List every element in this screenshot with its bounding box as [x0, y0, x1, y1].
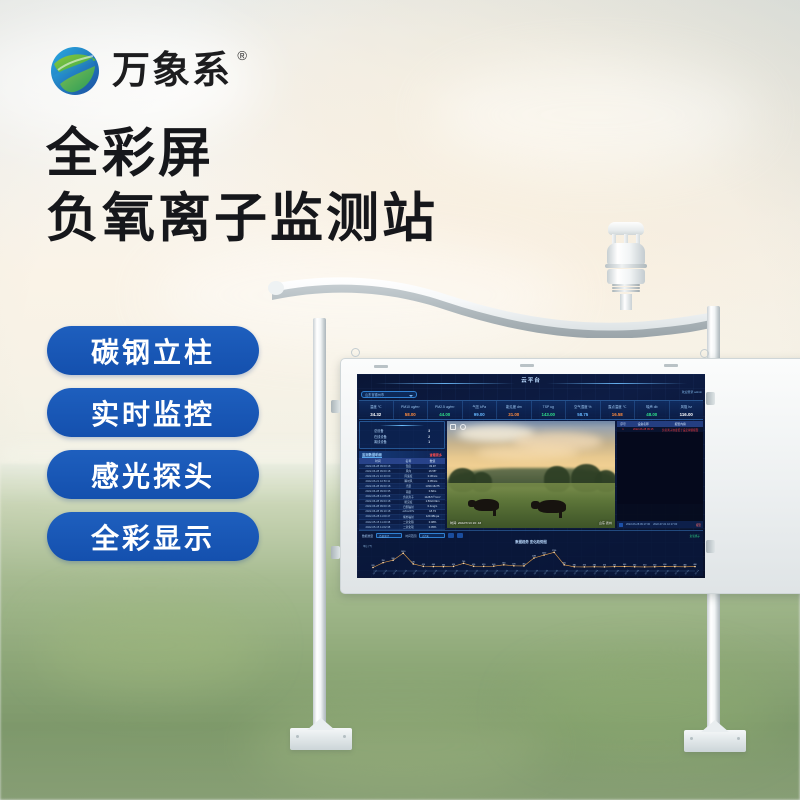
metric-cell: 风阻 hz116.00: [670, 401, 704, 419]
stat-row: 离线设备1: [366, 440, 438, 446]
mount-tab: [664, 364, 678, 367]
row-value: 0.05%: [420, 526, 445, 529]
svg-text:320: 320: [371, 565, 374, 567]
metric-value: 44.00: [428, 410, 462, 419]
side-bracket: [706, 540, 715, 553]
calendar-icon[interactable]: [619, 523, 623, 527]
row-value: 0.08%: [420, 521, 445, 524]
row-time: 2022-05-15 11:02:38: [359, 526, 397, 529]
row-value: 0.4mg/L: [420, 505, 445, 508]
metric-value: 143.00: [532, 410, 566, 419]
video-toolbar[interactable]: [450, 424, 466, 430]
row-name: 负氧离子: [397, 495, 420, 499]
row-time: 2022-06-28 09:00:35: [359, 490, 397, 493]
chart-range-select[interactable]: 近7天: [419, 533, 445, 539]
stat-value: 1: [428, 440, 430, 446]
svg-text:560: 560: [563, 562, 566, 564]
alarm-empty-area: [617, 432, 703, 504]
row-name: 能见度: [397, 500, 420, 504]
chart-panel: 数据类型 负氧离子 时间范围 近7天 负氧离子 数据趋势 变化趋势图 单位 (个…: [359, 530, 703, 576]
carbon-steel-post-left: [313, 318, 326, 730]
svg-text:430: 430: [472, 564, 475, 566]
metric-value: 58.75: [566, 410, 600, 419]
svg-text:370: 370: [583, 565, 586, 567]
metric-cell: 露点温度 ℃16.58: [601, 401, 636, 419]
ultrasonic-weather-sensor-icon: [600, 222, 652, 308]
row-name: 瞬时风: [397, 479, 420, 483]
svg-text:380: 380: [683, 564, 686, 566]
row-value: 0.36m/s: [420, 475, 445, 478]
headline-line-2: 负氧离子监测站: [46, 187, 438, 252]
side-bracket: [331, 400, 340, 413]
row-value: 1128.5个/cm³: [420, 495, 445, 499]
metric-strip: 温度 ℃34.32PM10 ug/m³58.00PM2.5 ug/m³44.00…: [359, 400, 703, 420]
row-time: 2022-06-28 11:06:28: [359, 495, 397, 498]
table-column-header: 时间: [359, 459, 397, 463]
svg-text:420: 420: [452, 564, 455, 566]
side-bracket: [706, 392, 715, 405]
sensor-fin: [612, 284, 640, 286]
expand-icon[interactable]: [450, 424, 456, 430]
svg-text:370: 370: [643, 565, 646, 567]
data-table: 监测数据明细 查看更多 时间名称数值 2022-06-28 09:00:18温度…: [359, 451, 445, 530]
svg-text:700: 700: [462, 561, 465, 563]
video-timestamp: 时间: 2022/7/13 16: 43: [450, 520, 481, 525]
metric-value: 99.00: [463, 410, 497, 419]
svg-text:400: 400: [432, 564, 435, 566]
row-value: 0.8dm: [420, 490, 445, 493]
chart-export-button[interactable]: [457, 533, 463, 539]
video-location: 山东 德州: [599, 520, 612, 525]
data-table-rows: 2022-06-28 09:00:18温度33.972022-06-28 09:…: [359, 464, 445, 530]
row-time: 2022-06-28 09:00:18: [359, 470, 397, 473]
video-cloud: [477, 445, 578, 460]
row-time: 2022-06-21 10:40:00: [359, 475, 397, 478]
station-select[interactable]: 山东省德州市: [361, 391, 417, 398]
row-name: 二氧化硫: [397, 525, 420, 529]
svg-text:440: 440: [492, 564, 495, 566]
row-time: 2022-05-15 11:20:38: [359, 521, 397, 524]
feature-pill[interactable]: 全彩显示: [47, 512, 259, 561]
svg-text:1450: 1450: [542, 553, 546, 555]
alarm-panel: 序号设备名称报警内容 12022-06-28 09:15负氧离子浓度低于设定阈值…: [617, 421, 703, 528]
row-time: 2022-06-28 11:00:47: [359, 515, 397, 518]
row-value: 33.97: [420, 465, 445, 468]
svg-text:380: 380: [653, 564, 656, 566]
row-value: 120.38k.pa: [420, 515, 445, 518]
side-bracket: [331, 546, 340, 559]
alarm-footer[interactable]: 2022-06-28 09:17:00 2022-07-01 10:17:00 …: [617, 521, 703, 528]
mount-tab: [374, 365, 388, 368]
metric-value: 34.32: [359, 410, 393, 419]
svg-text:400: 400: [663, 564, 666, 566]
row-time: 2022-06-28 09:00:18: [359, 465, 397, 468]
svg-text:460: 460: [522, 564, 525, 566]
table-column-header: 名称: [397, 459, 420, 463]
table-column-header: 数值: [420, 459, 445, 463]
sensor-stem: [620, 294, 632, 310]
mount-tab: [520, 364, 534, 367]
registered-mark: ®: [237, 49, 249, 62]
row-name: 风速度: [397, 474, 420, 478]
svg-text:1700: 1700: [552, 550, 556, 552]
chart-area: 单位 (个) 040080012001600200032076098016206…: [363, 544, 699, 577]
headline-line-1: 全彩屏: [46, 122, 438, 187]
left-panel: 总设备3在线设备2离线设备1 监测数据明细 查看更多 时间名称数值 2022-0…: [359, 421, 445, 528]
alarm-message: 负氧离子浓度低于设定阈值报警: [657, 428, 703, 432]
row-name: 风向: [397, 469, 420, 473]
row-name: 紫外辐射: [397, 515, 420, 519]
svg-text:390: 390: [442, 564, 445, 566]
device-stats-card: 总设备3在线设备2离线设备1: [359, 421, 445, 449]
svg-text:980: 980: [392, 558, 395, 560]
svg-text:1620: 1620: [401, 551, 405, 553]
feature-pill[interactable]: 碳钢立柱: [47, 326, 259, 375]
svg-text:640: 640: [412, 562, 415, 564]
dashboard-header: 云平台: [357, 374, 705, 390]
svg-text:370: 370: [603, 565, 606, 567]
dashboard-title: 云平台: [357, 376, 705, 384]
wave-canopy: [268, 276, 720, 338]
alarm-column-header: 序号: [617, 422, 629, 426]
metric-value: 58.00: [394, 410, 428, 419]
alarm-index: 1: [617, 428, 629, 431]
row-time: 2022-06-28 09:10:18: [359, 510, 397, 513]
svg-text:760: 760: [381, 560, 384, 562]
globe-swirl-logo-icon: [48, 44, 102, 98]
metric-cell: PM10 ug/m³58.00: [394, 401, 429, 419]
row-value: 0.95m/s: [420, 480, 445, 483]
metric-value: 48.00: [635, 410, 669, 419]
chart-legend-label: 负氧离子: [690, 534, 700, 538]
dashboard-body: 总设备3在线设备2离线设备1 监测数据明细 查看更多 时间名称数值 2022-0…: [359, 421, 703, 528]
row-name: 雨量: [397, 490, 420, 494]
feature-pill-list: 碳钢立柱实时监控感光探头全彩显示: [47, 326, 259, 561]
metric-cell: TSP ug143.00: [532, 401, 567, 419]
row-name: ozboz07x: [397, 510, 420, 513]
metric-value: 116.00: [670, 410, 704, 419]
alarm-device: 2022-06-28 09:15: [629, 428, 657, 431]
alarm-button[interactable]: 报警: [696, 523, 701, 527]
svg-text:380: 380: [593, 564, 596, 566]
row-time: 2022-06-28 09:00:18: [359, 505, 397, 508]
camera-feed[interactable]: 时间: 2022/7/13 16: 43 山东 德州: [447, 421, 615, 528]
metric-cell: 能见度 dm31.00: [497, 401, 532, 419]
svg-text:420: 420: [482, 564, 485, 566]
alarm-column-header: 报警内容: [657, 422, 703, 426]
row-name: 光量: [397, 484, 420, 488]
headline-block: 全彩屏 负氧离子监测站: [46, 122, 438, 251]
base-plate-right: [684, 730, 746, 752]
svg-text:560: 560: [502, 562, 505, 564]
stat-label: 离线设备: [374, 440, 387, 446]
video-panel[interactable]: 时间: 2022/7/13 16: 43 山东 德州: [447, 421, 615, 528]
row-value: 18.73: [420, 510, 445, 513]
sensor-upper-body: [607, 243, 645, 265]
video-cow: [538, 500, 567, 513]
metric-cell: 噪声 db48.00: [635, 401, 670, 419]
chart-range-label: 时间范围: [405, 534, 416, 538]
mount-hook-icon: [700, 349, 709, 358]
sensor-fin: [612, 290, 640, 292]
view-more-link[interactable]: 查看更多: [430, 452, 442, 457]
sensor-fin: [612, 287, 640, 289]
alarm-column-header: 设备名称: [629, 422, 657, 426]
video-cow: [474, 499, 499, 511]
svg-text:400: 400: [693, 564, 696, 566]
row-value: 16.58°: [420, 470, 445, 473]
metric-cell: PM2.5 ug/m³44.00: [428, 401, 463, 419]
row-name: 日照辐射: [397, 505, 420, 509]
chart-search-button[interactable]: [448, 533, 454, 539]
alarm-to-date: 2022-07-01 10:17:00: [653, 523, 677, 526]
row-value: 1330.16x75: [420, 485, 445, 488]
svg-text:390: 390: [613, 564, 616, 566]
row-time: 2022-06-28 09:03:18: [359, 500, 397, 503]
metric-cell: 气压 kPa99.00: [463, 401, 498, 419]
metric-value: 16.58: [601, 410, 635, 419]
row-value: 1.50x0.6km: [420, 500, 445, 503]
metric-value: 31.00: [497, 410, 531, 419]
svg-text:1180: 1180: [532, 556, 536, 558]
data-table-header: 监测数据明细 查看更多: [359, 451, 445, 458]
feature-pill[interactable]: 实时监控: [47, 388, 259, 437]
row-name: 温度: [397, 464, 420, 468]
metric-cell: 空气湿度 %58.75: [566, 401, 601, 419]
svg-text:420: 420: [422, 564, 425, 566]
chart-type-label: 数据类型: [362, 534, 373, 538]
svg-text:470: 470: [512, 563, 515, 565]
svg-text:390: 390: [673, 564, 676, 566]
camera-icon[interactable]: [460, 424, 466, 430]
sensor-band: [605, 264, 647, 268]
svg-text:380: 380: [573, 564, 576, 566]
row-time: 2022-06-21 10:50:11: [359, 480, 397, 483]
feature-pill[interactable]: 感光探头: [47, 450, 259, 499]
row-time: 2022-06-28 09:00:18: [359, 485, 397, 488]
data-table-title: 监测数据明细: [362, 452, 382, 458]
chart-type-select[interactable]: 负氧离子: [376, 533, 402, 539]
sensor-lower-body: [607, 269, 645, 284]
svg-text:380: 380: [633, 564, 636, 566]
mount-hook-icon: [351, 348, 360, 357]
alarm-from-date: 2022-06-28 09:17:00: [626, 523, 650, 526]
brand-logo: 万象系®: [48, 44, 232, 98]
dashboard-screen[interactable]: 云平台 山东省德州市 欢迎登录 admin 温度 ℃34.32PM10 ug/m…: [357, 374, 705, 578]
user-info[interactable]: 欢迎登录 admin: [682, 390, 702, 394]
row-name: 二氧化碳: [397, 520, 420, 524]
svg-text:400: 400: [623, 564, 626, 566]
brand-name: 万象系®: [112, 52, 232, 90]
base-plate-left: [290, 728, 352, 750]
metric-cell: 温度 ℃34.32: [359, 401, 394, 419]
